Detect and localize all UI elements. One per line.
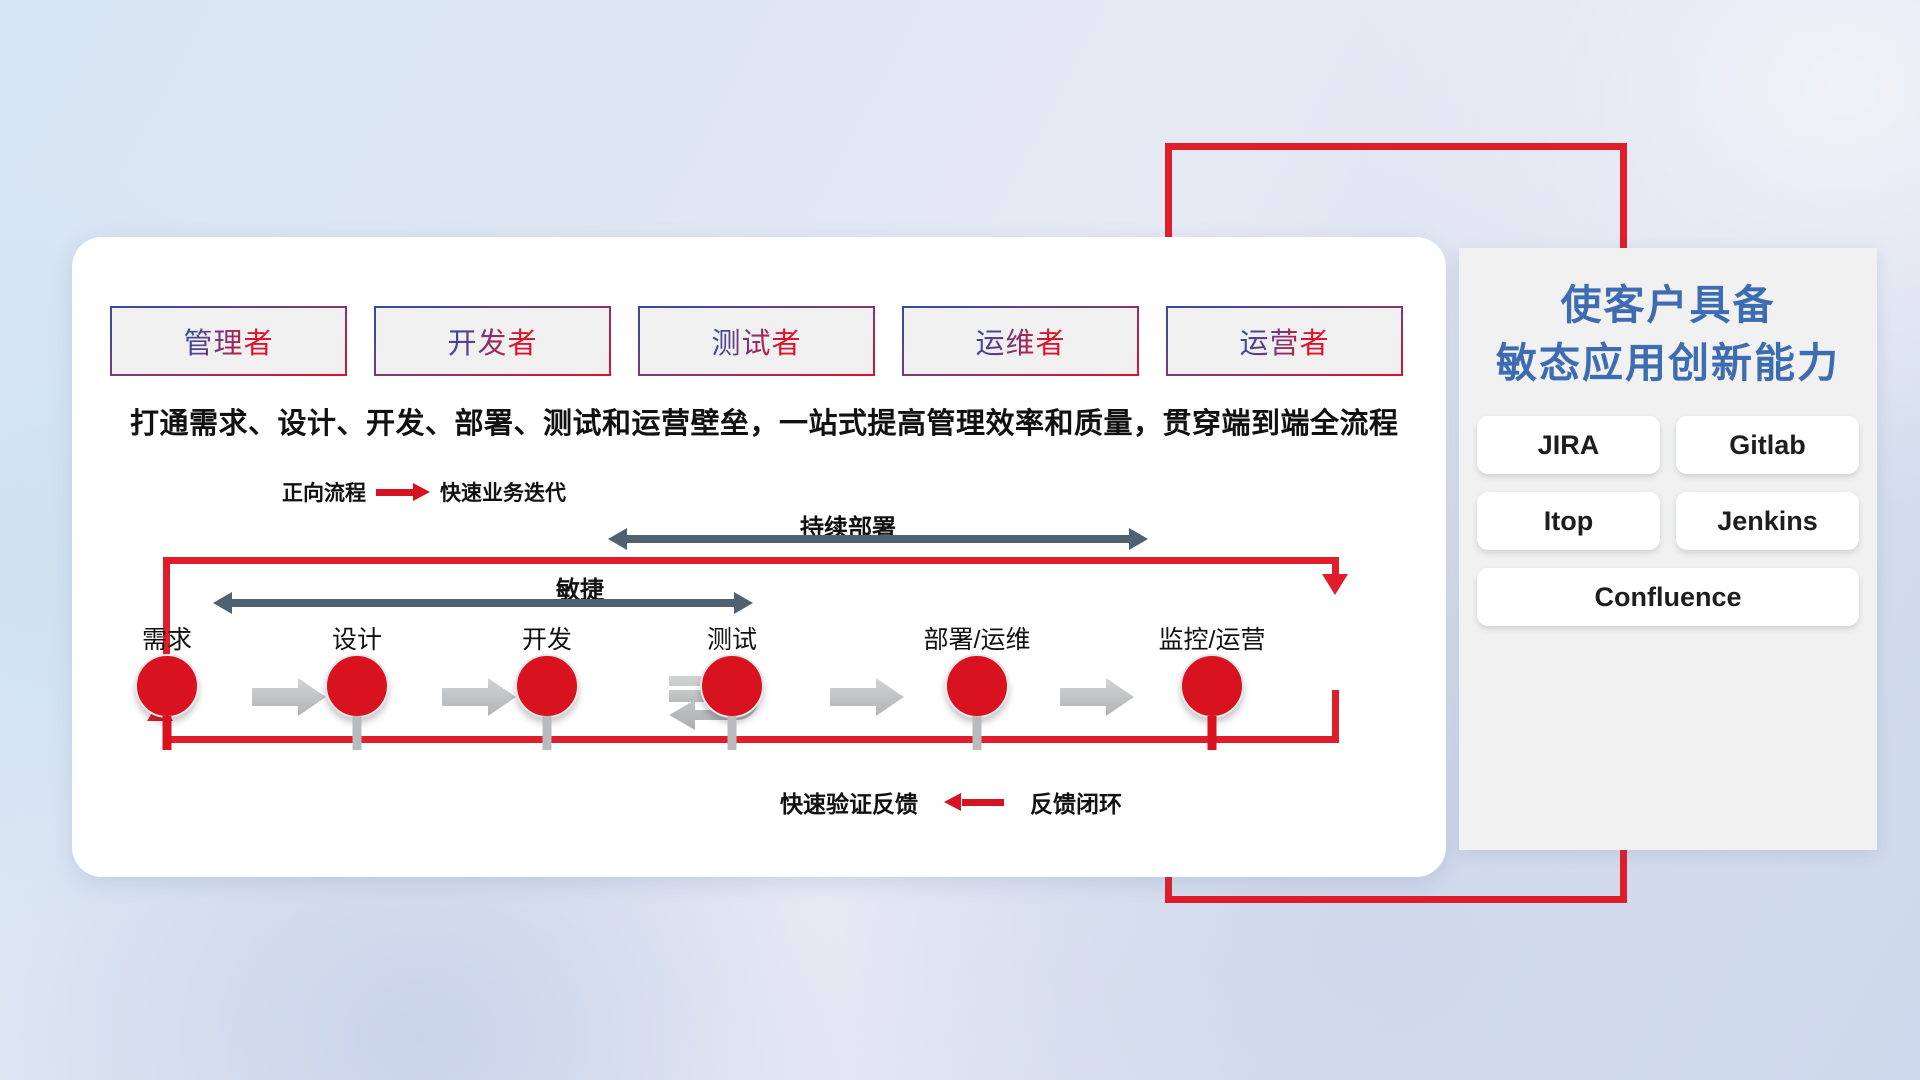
stage-dot [325, 654, 389, 718]
continuous-deployment-arrow [608, 528, 1148, 550]
arrow-left-red-icon [944, 796, 1004, 808]
tool-jenkins[interactable]: Jenkins [1676, 492, 1859, 550]
card-description: 打通需求、设计、开发、部署、测试和运营壁垒，一站式提高管理效率和质量，贯穿端到端… [130, 400, 1430, 442]
stage-stem [543, 716, 552, 750]
role-chip-label: 管理者 [183, 320, 273, 362]
feedback-loop-down-arrow-icon [1322, 574, 1348, 595]
stage-dot [1180, 654, 1244, 718]
stage-label: 需求 [142, 620, 192, 656]
capability-panel: 使客户具备 敏态应用创新能力 JIRA Gitlab Itop Jenkins … [1459, 248, 1877, 850]
stage-dot [515, 654, 579, 718]
stage-label: 监控/运营 [1159, 620, 1266, 656]
stage-stem [163, 716, 172, 750]
chevron-right-icon [252, 678, 326, 716]
role-chip-developer[interactable]: 开发者 [374, 306, 611, 376]
outer-bracket-bottom [1165, 896, 1627, 903]
forward-flow-legend: 正向流程 快速业务迭代 [282, 477, 566, 507]
role-chip-label: 运维者 [975, 320, 1065, 362]
forward-flow-left-label: 正向流程 [282, 477, 366, 507]
role-chip-ops[interactable]: 运维者 [902, 306, 1139, 376]
feedback-left-label: 快速验证反馈 [780, 785, 918, 819]
outer-bracket-top [1165, 143, 1627, 150]
stage-stem [1208, 716, 1217, 750]
panel-title: 使客户具备 敏态应用创新能力 [1459, 248, 1877, 392]
stage-label: 测试 [707, 620, 757, 656]
stage-label: 部署/运维 [924, 620, 1031, 656]
role-chip-operations[interactable]: 运营者 [1166, 306, 1403, 376]
role-chip-label: 测试者 [711, 320, 801, 362]
tool-gitlab[interactable]: Gitlab [1676, 416, 1859, 474]
feedback-loop-legend: 快速验证反馈 反馈闭环 [780, 785, 1122, 819]
stage-label: 开发 [522, 620, 572, 656]
chevron-right-icon [830, 678, 904, 716]
chevron-right-icon [442, 678, 516, 716]
forward-flow-right-label: 快速业务迭代 [440, 477, 566, 507]
tool-jira[interactable]: JIRA [1477, 416, 1660, 474]
feedback-loop-top [163, 557, 1339, 564]
stage-dot [945, 654, 1009, 718]
stage-stem [728, 716, 737, 750]
tool-itop[interactable]: Itop [1477, 492, 1660, 550]
role-chip-tester[interactable]: 测试者 [638, 306, 875, 376]
tool-confluence[interactable]: Confluence [1477, 568, 1859, 626]
devops-pipeline: 需求 设计 开发 [112, 620, 1402, 730]
stage-dot [135, 654, 199, 718]
arrow-right-red-icon [376, 486, 430, 498]
tool-button-grid: JIRA Gitlab Itop Jenkins Confluence [1477, 416, 1859, 626]
stage-dot [700, 654, 764, 718]
panel-title-line2: 敏态应用创新能力 [1459, 334, 1877, 392]
agile-arrow [213, 592, 753, 614]
stage-stem [353, 716, 362, 750]
role-chip-row: 管理者 开发者 测试者 运维者 运营者 [110, 306, 1403, 376]
role-chip-label: 运营者 [1239, 320, 1329, 362]
role-chip-label: 开发者 [447, 320, 537, 362]
role-chip-manager[interactable]: 管理者 [110, 306, 347, 376]
panel-title-line1: 使客户具备 [1459, 276, 1877, 334]
feedback-right-label: 反馈闭环 [1030, 785, 1122, 819]
stage-label: 设计 [332, 620, 382, 656]
feedback-loop-bottom [163, 736, 1339, 743]
chevron-right-icon [1060, 678, 1134, 716]
slide-canvas: 管理者 开发者 测试者 运维者 运营者 打通需求、设计、开发、部署、测试和运营壁… [0, 0, 1920, 1080]
stage-stem [973, 716, 982, 750]
